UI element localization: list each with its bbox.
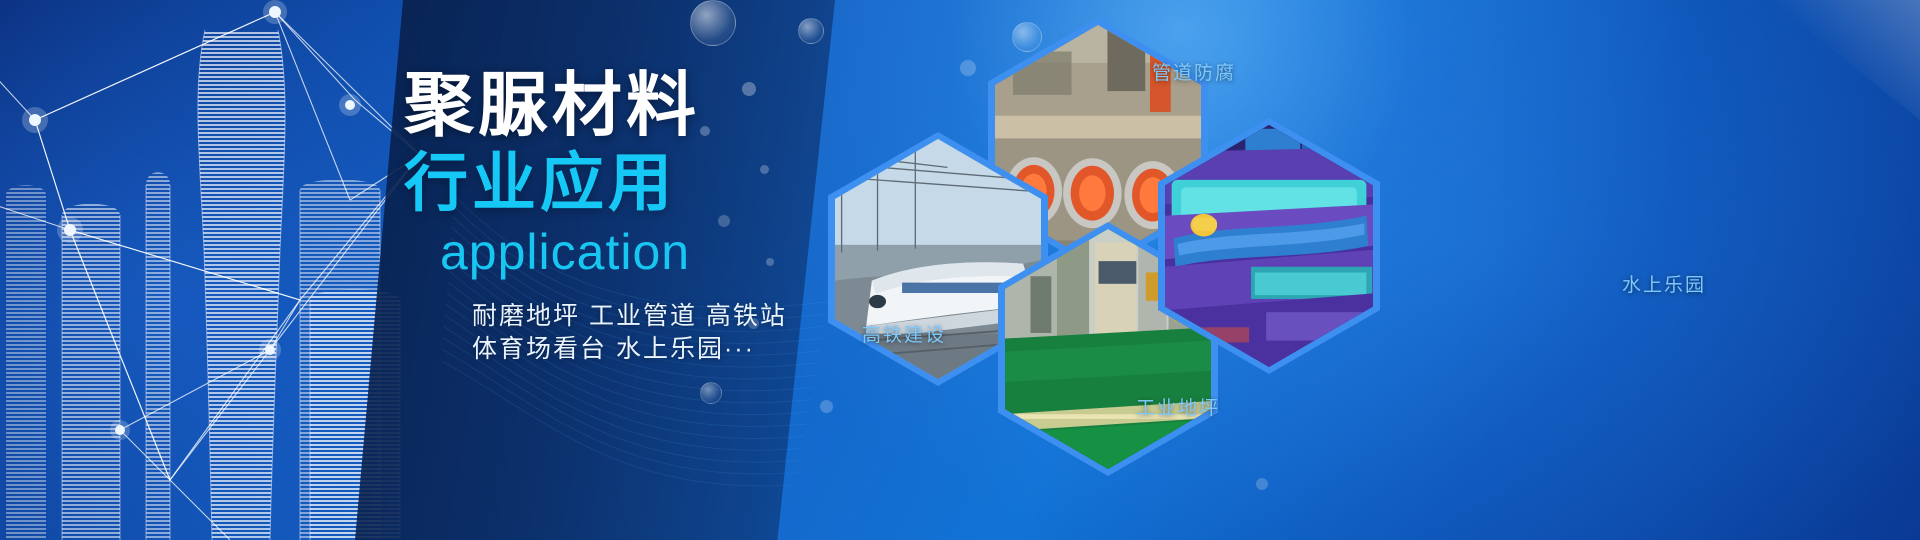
tagline-line-2: 体育场看台 水上乐园···	[472, 333, 824, 367]
page-subtitle: 行业应用	[404, 148, 824, 220]
tagline: 耐磨地坪 工业管道 高铁站 体育场看台 水上乐园···	[404, 300, 824, 368]
hexagon-label-pipeline: 管道防腐	[1152, 58, 1236, 85]
polyurea-application-banner: 聚脲材料 行业应用 application 耐磨地坪 工业管道 高铁站 体育场看…	[0, 0, 1920, 540]
page-title: 聚脲材料	[404, 70, 824, 140]
hexagon-photo-cluster	[790, 0, 1920, 540]
hexagon-label-highspeed-rail: 高铁建设	[862, 320, 946, 347]
tagline-line-1: 耐磨地坪 工业管道 高铁站	[472, 300, 824, 334]
hexagon-water-park[interactable]	[1158, 118, 1380, 374]
headline-text-block: 聚脲材料 行业应用 application 耐磨地坪 工业管道 高铁站 体育场看…	[404, 70, 824, 367]
hexagon-label-industrial-floor: 工业地坪	[1136, 393, 1220, 420]
hexagon-label-water-park: 水上乐园	[1622, 270, 1706, 297]
page-subtitle-en: application	[404, 222, 824, 282]
